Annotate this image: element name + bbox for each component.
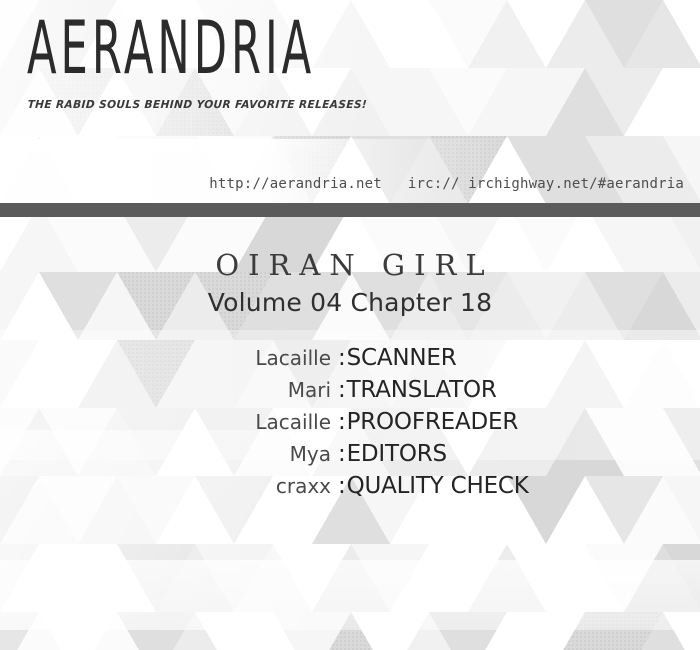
credits-page: AERANDRIA THE RABID SOULS BEHIND YOUR FA…	[0, 0, 700, 650]
header-divider-bar	[0, 203, 700, 217]
credit-role-label: TRANSLATOR	[347, 377, 497, 403]
credit-colon: :	[338, 345, 346, 371]
credits-list: Lacaille :SCANNER Mari :TRANSLATOR Lacai…	[0, 345, 700, 505]
credit-name: Lacaille	[0, 346, 338, 370]
irc-link[interactable]: irc:// irchighway.net/#aerandria	[408, 176, 684, 192]
series-title: OIRAN GIRL	[0, 248, 700, 282]
credit-row: craxx :QUALITY CHECK	[0, 473, 700, 505]
credit-role-label: SCANNER	[347, 345, 457, 371]
credit-row: Lacaille :SCANNER	[0, 345, 700, 377]
credit-colon: :	[338, 409, 346, 435]
credit-name: Mya	[0, 442, 338, 466]
credit-role-label: EDITORS	[347, 441, 447, 467]
credit-row: Lacaille :PROOFREADER	[0, 409, 700, 441]
credit-role: :TRANSLATOR	[338, 377, 497, 403]
credit-role: :QUALITY CHECK	[338, 473, 529, 499]
credit-name: Mari	[0, 378, 338, 402]
credit-row: Mari :TRANSLATOR	[0, 377, 700, 409]
credit-role: :EDITORS	[338, 441, 447, 467]
credit-role: :PROOFREADER	[338, 409, 518, 435]
credit-colon: :	[338, 473, 346, 499]
page-header: AERANDRIA THE RABID SOULS BEHIND YOUR FA…	[0, 0, 700, 203]
credit-name: craxx	[0, 474, 338, 498]
credit-colon: :	[338, 377, 346, 403]
credit-role-label: QUALITY CHECK	[347, 473, 529, 499]
volume-chapter-label: Volume 04 Chapter 18	[0, 288, 700, 317]
brand-tagline: THE RABID SOULS BEHIND YOUR FAVORITE REL…	[27, 98, 367, 111]
credit-row: Mya :EDITORS	[0, 441, 700, 473]
credit-role-label: PROOFREADER	[347, 409, 519, 435]
credit-colon: :	[338, 441, 346, 467]
credit-name: Lacaille	[0, 410, 338, 434]
aerandria-logo: AERANDRIA	[27, 12, 315, 85]
credits-body: OIRAN GIRL Volume 04 Chapter 18 Lacaille…	[0, 217, 700, 650]
credit-role: :SCANNER	[338, 345, 456, 371]
link-bar: http://aerandria.net irc:// irchighway.n…	[209, 176, 684, 192]
website-link[interactable]: http://aerandria.net	[209, 176, 382, 192]
